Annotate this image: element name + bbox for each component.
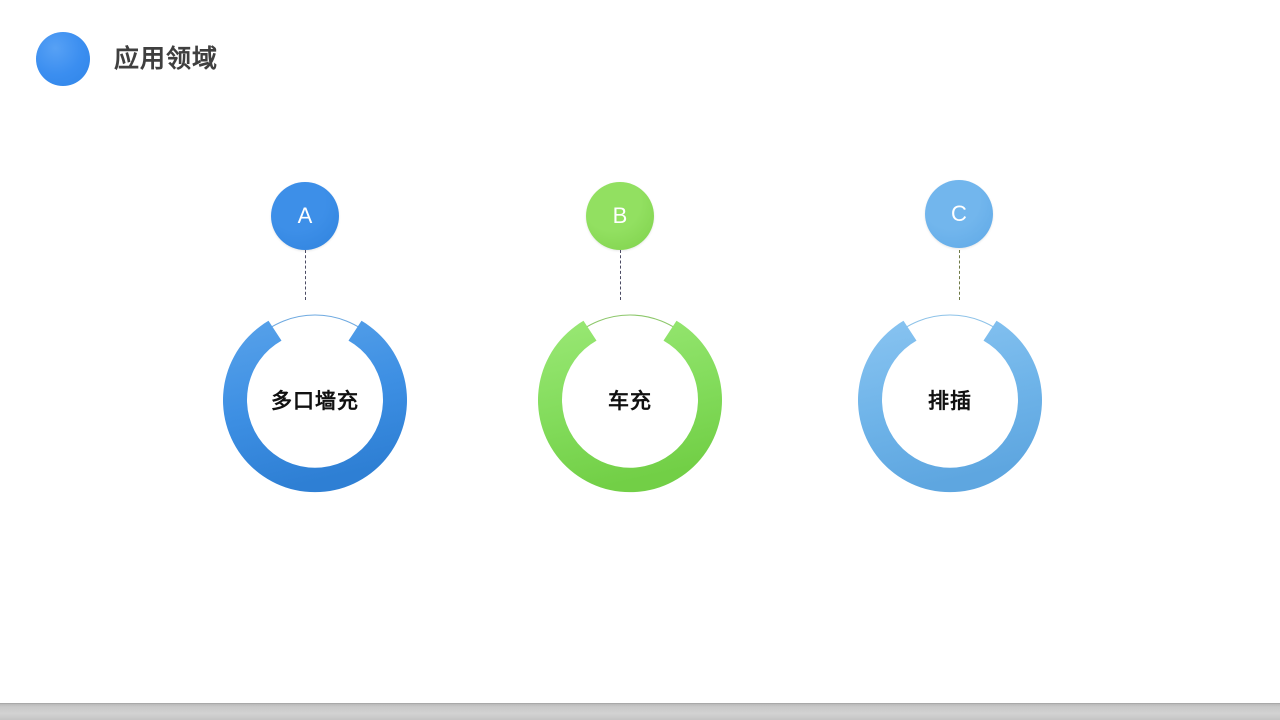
diagram-group-b[interactable]: B 车充 <box>480 160 780 500</box>
application-fields-diagram: A 多口墙充 <box>0 160 1280 520</box>
ring-b[interactable]: 车充 <box>524 294 736 506</box>
badge-circle-a[interactable]: A <box>271 182 339 250</box>
page-title: 应用领域 <box>114 47 218 72</box>
badge-letter-b: B <box>613 205 628 227</box>
diagram-group-a[interactable]: A 多口墙充 <box>165 160 465 500</box>
slide-canvas: 应用领域 A <box>0 0 1280 720</box>
connector-line-c <box>959 250 960 300</box>
diagram-group-c[interactable]: C 排插 <box>800 160 1100 500</box>
badge-circle-b[interactable]: B <box>586 182 654 250</box>
ring-c[interactable]: 排插 <box>844 294 1056 506</box>
badge-letter-c: C <box>951 203 967 225</box>
ring-a[interactable]: 多口墙充 <box>209 294 421 506</box>
slide-header: 应用领域 <box>36 31 218 87</box>
badge-letter-a: A <box>298 205 313 227</box>
connector-line-b <box>620 250 621 300</box>
bottom-status-bar[interactable] <box>0 703 1280 720</box>
bullet-circle-icon <box>36 32 90 86</box>
connector-line-a <box>305 250 306 300</box>
badge-circle-c[interactable]: C <box>925 180 993 248</box>
